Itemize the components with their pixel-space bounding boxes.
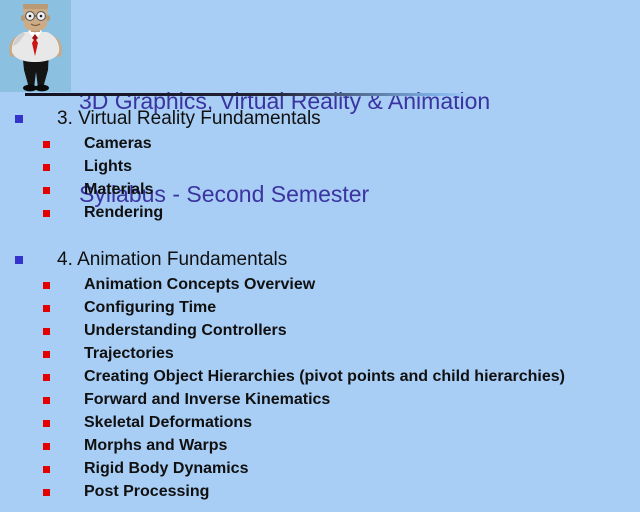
list-item-label: Cameras [84,132,152,155]
square-bullet-icon [43,420,50,427]
square-bullet-icon [43,305,50,312]
cartoon-office-worker-icon [0,0,71,92]
square-bullet-icon [43,443,50,450]
square-bullet-icon [43,210,50,217]
list-item[interactable]: Post Processing [0,480,640,503]
list-item[interactable]: Animation Concepts Overview [0,273,640,296]
bullet-heading-label: 3. Virtual Reality Fundamentals [57,105,321,132]
square-bullet-icon [15,115,23,123]
square-bullet-icon [43,351,50,358]
list-item[interactable]: Forward and Inverse Kinematics [0,388,640,411]
list-item-label: Morphs and Warps [84,434,227,457]
square-bullet-icon [43,397,50,404]
slide-title-area: 3D Graphics, Virtual Reality & Animation… [0,0,640,96]
title-figure-panel [0,0,71,92]
list-item-label: Lights [84,155,132,178]
list-item[interactable]: Materials [0,178,640,201]
list-item[interactable]: Cameras [0,132,640,155]
list-item-label: Rigid Body Dynamics [84,457,248,480]
list-item[interactable]: Trajectories [0,342,640,365]
list-item-label: Animation Concepts Overview [84,273,315,296]
list-item-label: Post Processing [84,480,209,503]
bullet-heading[interactable]: 4. Animation Fundamentals [0,246,640,273]
slide-body: 3. Virtual Reality Fundamentals Cameras … [0,105,640,505]
square-bullet-icon [43,489,50,496]
bullet-group-virtual-reality-fundamentals: 3. Virtual Reality Fundamentals Cameras … [0,105,640,224]
square-bullet-icon [15,256,23,264]
list-item-label: Configuring Time [84,296,216,319]
list-item[interactable]: Configuring Time [0,296,640,319]
list-item[interactable]: Skeletal Deformations [0,411,640,434]
list-item[interactable]: Rigid Body Dynamics [0,457,640,480]
square-bullet-icon [43,374,50,381]
list-item[interactable]: Lights [0,155,640,178]
square-bullet-icon [43,164,50,171]
title-divider [25,93,473,96]
list-item-label: Trajectories [84,342,174,365]
bullet-heading[interactable]: 3. Virtual Reality Fundamentals [0,105,640,132]
group-spacer [0,224,640,246]
bullet-group-animation-fundamentals: 4. Animation Fundamentals Animation Conc… [0,246,640,503]
list-item[interactable]: Rendering [0,201,640,224]
list-item-label: Understanding Controllers [84,319,287,342]
list-item-label: Rendering [84,201,163,224]
square-bullet-icon [43,187,50,194]
list-item-label: Forward and Inverse Kinematics [84,388,330,411]
square-bullet-icon [43,328,50,335]
list-item[interactable]: Creating Object Hierarchies (pivot point… [0,365,640,388]
list-item-label: Creating Object Hierarchies (pivot point… [84,365,565,388]
bullet-heading-label: 4. Animation Fundamentals [57,246,287,273]
square-bullet-icon [43,466,50,473]
list-item-label: Materials [84,178,153,201]
presentation-slide: 3D Graphics, Virtual Reality & Animation… [0,0,640,512]
list-item[interactable]: Understanding Controllers [0,319,640,342]
square-bullet-icon [43,282,50,289]
list-item[interactable]: Morphs and Warps [0,434,640,457]
list-item-label: Skeletal Deformations [84,411,252,434]
square-bullet-icon [43,141,50,148]
